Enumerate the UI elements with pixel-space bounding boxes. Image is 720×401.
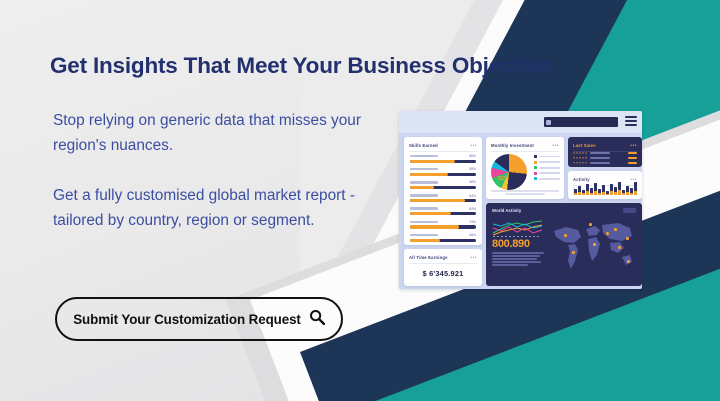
map-stats: 800.890 — [492, 219, 544, 267]
pie-center-label: 52% — [498, 176, 509, 182]
sales-rows — [573, 152, 637, 166]
map-action-button[interactable] — [623, 208, 636, 213]
world-map — [548, 217, 638, 282]
dashboard-body: Skills Earned ••• 68% 58% 36% 84% 62% 74… — [404, 137, 637, 284]
legend-item — [534, 166, 560, 169]
earnings-value: $ 6'345.921 — [404, 269, 482, 278]
card-header: All Time Earnings ••• — [409, 253, 477, 262]
body-paragraph-2: Get a fully customised global market rep… — [53, 183, 383, 233]
sales-row — [573, 157, 637, 159]
skill-row: 36% — [410, 180, 476, 189]
skill-rows: 68% 58% 36% 84% 62% 74% 46% — [410, 154, 476, 246]
dashboard-mockup: Skills Earned ••• 68% 58% 36% 84% 62% 74… — [399, 111, 642, 289]
page-title: Get Insights That Meet Your Business Obj… — [50, 53, 590, 79]
legend-item — [534, 161, 560, 164]
card-header: World Activity — [492, 208, 636, 213]
skill-row: 58% — [410, 167, 476, 176]
all-time-earnings-card: All Time Earnings ••• $ 6'345.921 — [404, 249, 482, 286]
card-header: Monthly Investment ••• — [491, 141, 559, 150]
card-header: Last Sales ••• — [573, 141, 637, 150]
more-options-icon[interactable]: ••• — [552, 144, 559, 148]
legend-item — [534, 177, 560, 180]
cta-label: Submit Your Customization Request — [73, 312, 301, 327]
search-icon — [309, 309, 325, 330]
activity-card: Activity ••• — [568, 171, 642, 199]
divider — [409, 263, 477, 264]
card-title: Monthly Investment — [491, 143, 534, 148]
banner-stage: Get Insights That Meet Your Business Obj… — [0, 0, 720, 401]
world-activity-card: World Activity — [486, 203, 642, 286]
skill-row: 74% — [410, 220, 476, 229]
card-header: Skills Earned ••• — [409, 141, 477, 150]
card-title: Last Sales — [573, 143, 596, 148]
pie-footnote — [491, 190, 559, 195]
card-title: All Time Earnings — [409, 255, 448, 260]
hamburger-icon[interactable] — [625, 116, 637, 128]
more-options-icon[interactable]: ••• — [470, 256, 477, 260]
sparkline-chart — [492, 219, 544, 237]
last-sales-card: Last Sales ••• — [568, 137, 642, 167]
skill-row: 68% — [410, 154, 476, 163]
monthly-investment-card: Monthly Investment ••• 52% — [486, 137, 564, 199]
map-value: 800.890 — [492, 238, 544, 250]
skill-row: 46% — [410, 233, 476, 242]
card-title: World Activity — [492, 208, 521, 213]
pie-legend — [534, 155, 560, 183]
skills-earned-card: Skills Earned ••• 68% 58% 36% 84% 62% 74… — [404, 137, 482, 245]
skill-row: 84% — [410, 194, 476, 203]
more-options-icon[interactable]: ••• — [630, 144, 637, 148]
sales-row — [573, 152, 637, 154]
sales-row — [573, 162, 637, 164]
skill-row: 62% — [410, 207, 476, 216]
body-paragraph-1: Stop relying on generic data that misses… — [53, 108, 383, 158]
pie-chart: 52% — [491, 154, 531, 190]
dashboard-topbar — [399, 111, 642, 133]
divider — [409, 151, 477, 152]
divider — [491, 151, 559, 152]
submit-customization-request-button[interactable]: Submit Your Customization Request — [55, 297, 343, 341]
legend-item — [534, 172, 560, 175]
map-description — [492, 252, 544, 266]
activity-bars — [574, 181, 637, 195]
legend-item — [534, 155, 560, 158]
card-title: Skills Earned — [409, 143, 438, 148]
search-input[interactable] — [544, 117, 618, 127]
more-options-icon[interactable]: ••• — [470, 144, 477, 148]
